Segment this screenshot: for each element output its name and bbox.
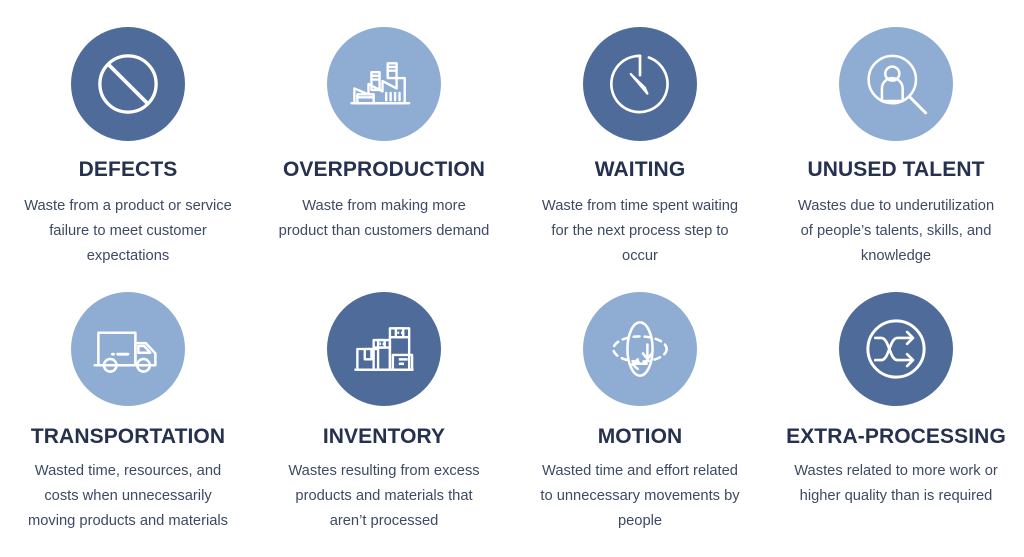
stacked-boxes-icon <box>347 312 421 386</box>
waste-description: Waste from a product or service failure … <box>22 194 234 269</box>
waste-description: Wastes related to more work or higher qu… <box>790 459 1002 509</box>
waste-title: TRANSPORTATION <box>31 425 225 448</box>
waste-card-defects: DEFECTS Waste from a product or service … <box>0 0 256 280</box>
waste-description: Waste from time spent waiting for the ne… <box>534 194 746 269</box>
waste-title: EXTRA-PROCESSING <box>786 425 1006 448</box>
icon-circle-extra-processing <box>839 292 953 406</box>
waste-description: Wasted time and effort related to unnece… <box>534 459 746 534</box>
prohibition-sign-icon <box>91 47 165 121</box>
waste-title: INVENTORY <box>323 425 445 448</box>
icon-circle-defects <box>71 27 185 141</box>
waste-card-transportation: TRANSPORTATION Wasted time, resources, a… <box>0 280 256 557</box>
stopwatch-icon <box>603 47 677 121</box>
rotation-arrows-icon <box>603 312 677 386</box>
delivery-truck-icon <box>91 312 165 386</box>
waste-card-waiting: WAITING Waste from time spent waiting fo… <box>512 0 768 280</box>
waste-title: UNUSED TALENT <box>807 158 984 181</box>
icon-circle-transportation <box>71 292 185 406</box>
icon-circle-unused-talent <box>839 27 953 141</box>
factory-icon <box>347 47 421 121</box>
person-magnifier-icon <box>859 47 933 121</box>
icon-circle-inventory <box>327 292 441 406</box>
waste-description: Wastes due to underutilization of people… <box>790 194 1002 269</box>
waste-description: Waste from making more product than cust… <box>278 194 490 244</box>
waste-card-extra-processing: EXTRA-PROCESSING Wastes related to more … <box>768 280 1024 557</box>
waste-title: MOTION <box>598 425 683 448</box>
icon-circle-overproduction <box>327 27 441 141</box>
waste-title: OVERPRODUCTION <box>283 158 485 181</box>
icon-circle-waiting <box>583 27 697 141</box>
waste-description: Wastes resulting from excess products an… <box>278 459 490 534</box>
waste-card-inventory: INVENTORY Wastes resulting from excess p… <box>256 280 512 557</box>
eight-wastes-infographic: DEFECTS Waste from a product or service … <box>0 0 1024 557</box>
waste-card-overproduction: OVERPRODUCTION Waste from making more pr… <box>256 0 512 280</box>
waste-description: Wasted time, resources, and costs when u… <box>22 459 234 534</box>
waste-card-unused-talent: UNUSED TALENT Wastes due to underutiliza… <box>768 0 1024 280</box>
waste-card-motion: MOTION Wasted time and effort related to… <box>512 280 768 557</box>
waste-title: DEFECTS <box>79 158 178 181</box>
shuffle-arrows-icon <box>859 312 933 386</box>
waste-title: WAITING <box>595 158 686 181</box>
icon-circle-motion <box>583 292 697 406</box>
